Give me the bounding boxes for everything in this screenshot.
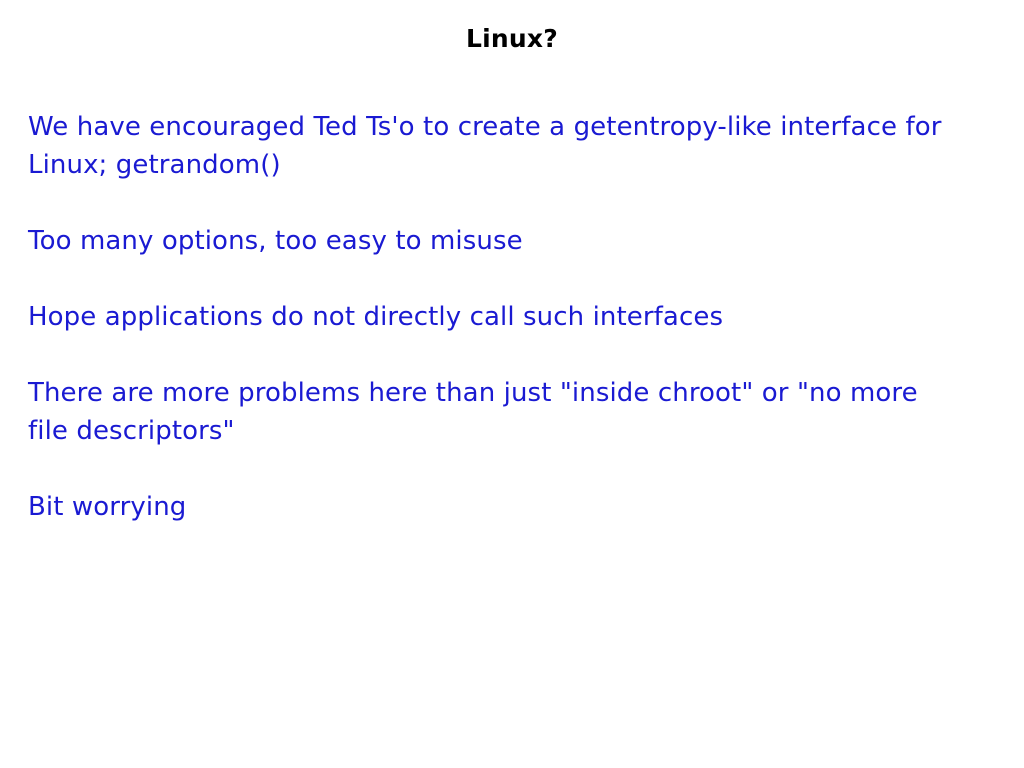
body-paragraph-5: Bit worrying: [28, 488, 968, 526]
body-paragraph-2: Too many options, too easy to misuse: [28, 222, 968, 260]
page-title: Linux?: [0, 24, 1024, 54]
body-paragraph-1: We have encouraged Ted Ts'o to create a …: [28, 108, 963, 184]
body-paragraph-4: There are more problems here than just "…: [28, 374, 958, 450]
slide-body: We have encouraged Ted Ts'o to create a …: [28, 108, 968, 526]
body-paragraph-3: Hope applications do not directly call s…: [28, 298, 968, 336]
slide-canvas: Linux? We have encouraged Ted Ts'o to cr…: [0, 0, 1024, 768]
